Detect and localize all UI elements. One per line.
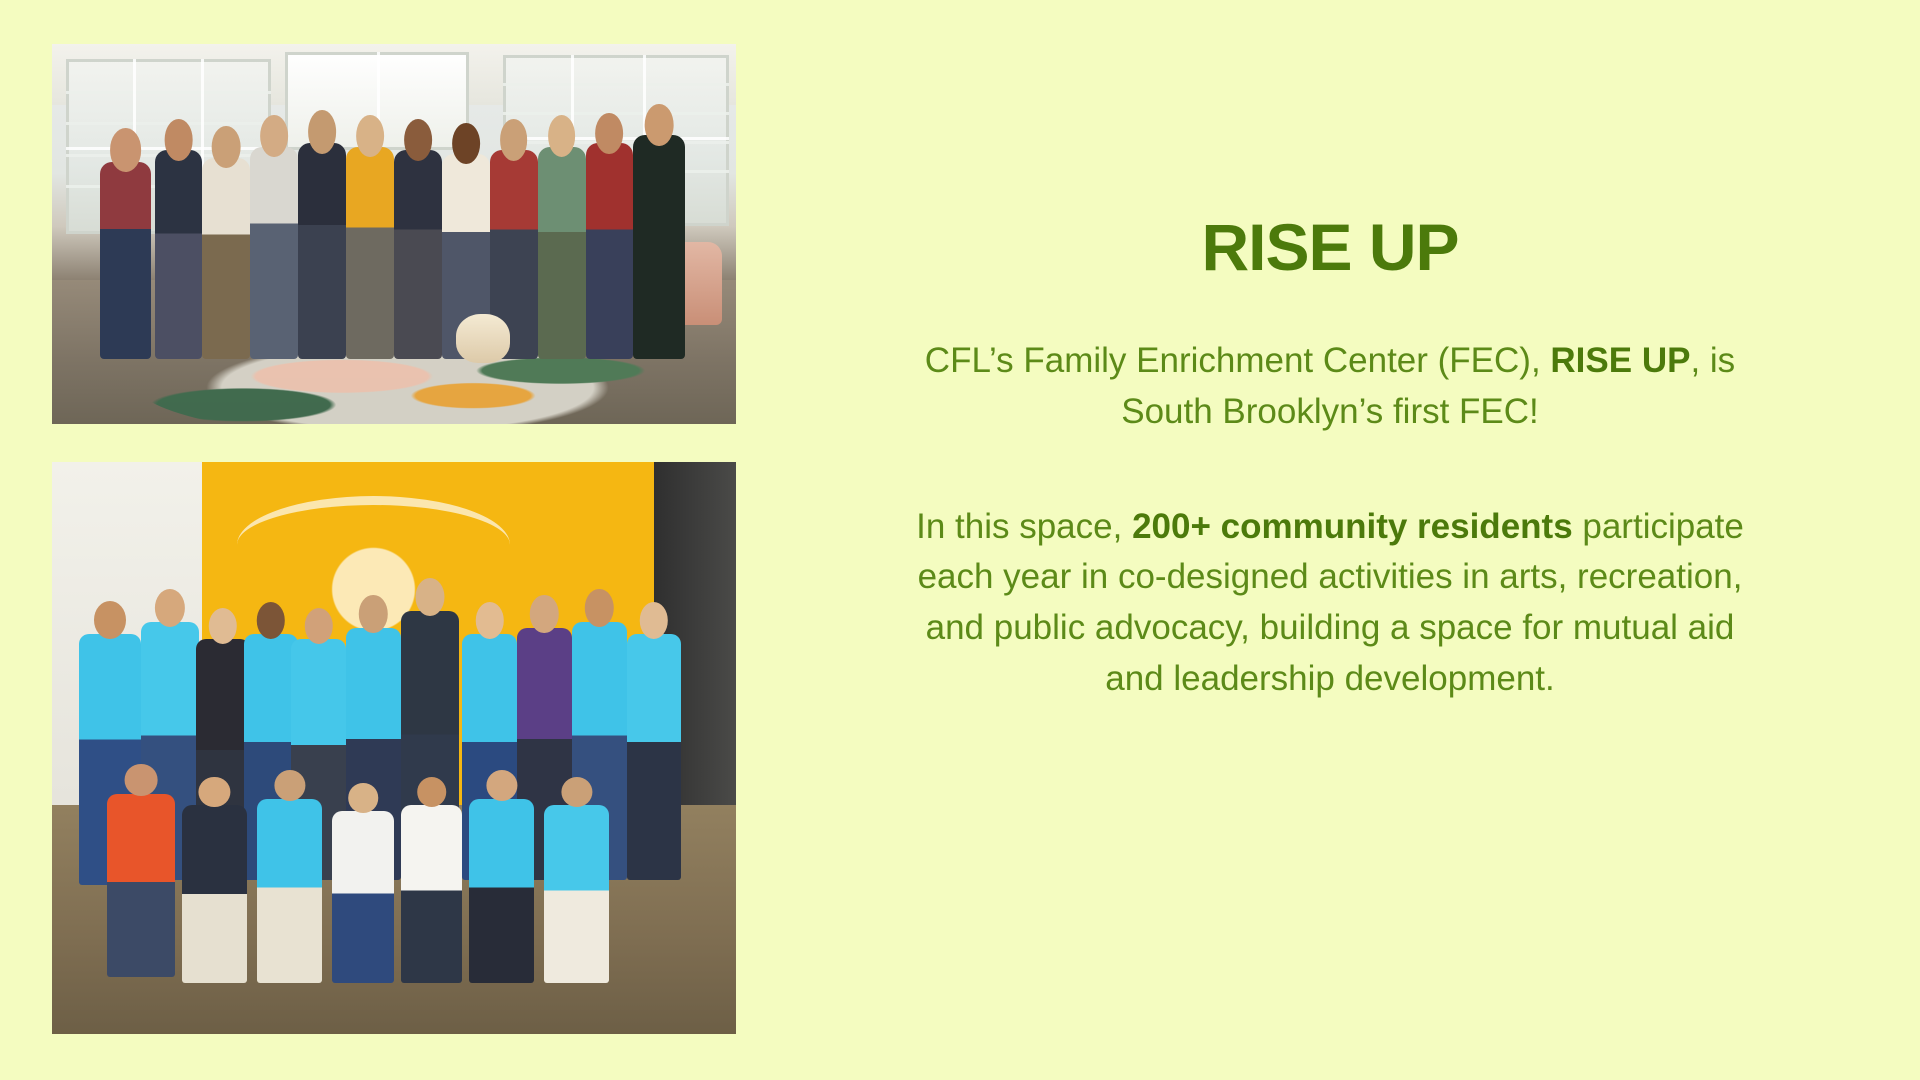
photo-bottom-illustration (52, 462, 736, 1034)
intro-text-emphasis: RISE UP (1550, 341, 1690, 380)
photo-top-illustration (52, 44, 736, 424)
slide-canvas: RISE UP CFL’s Family Enrichment Center (… (0, 0, 1920, 1080)
impact-text-emphasis: 200+ community residents (1132, 507, 1573, 546)
photo-bottom (52, 462, 736, 1034)
paragraph-impact: In this space, 200+ community residents … (915, 502, 1745, 705)
paragraph-intro: CFL’s Family Enrichment Center (FEC), RI… (915, 336, 1745, 438)
text-column: RISE UP CFL’s Family Enrichment Center (… (790, 44, 1870, 1034)
page-title: RISE UP (1201, 214, 1458, 280)
photo-top (52, 44, 736, 424)
photo-column (52, 44, 736, 1034)
impact-text-lead: In this space, (916, 507, 1132, 546)
intro-text-lead: CFL’s Family Enrichment Center (FEC), (925, 341, 1551, 380)
